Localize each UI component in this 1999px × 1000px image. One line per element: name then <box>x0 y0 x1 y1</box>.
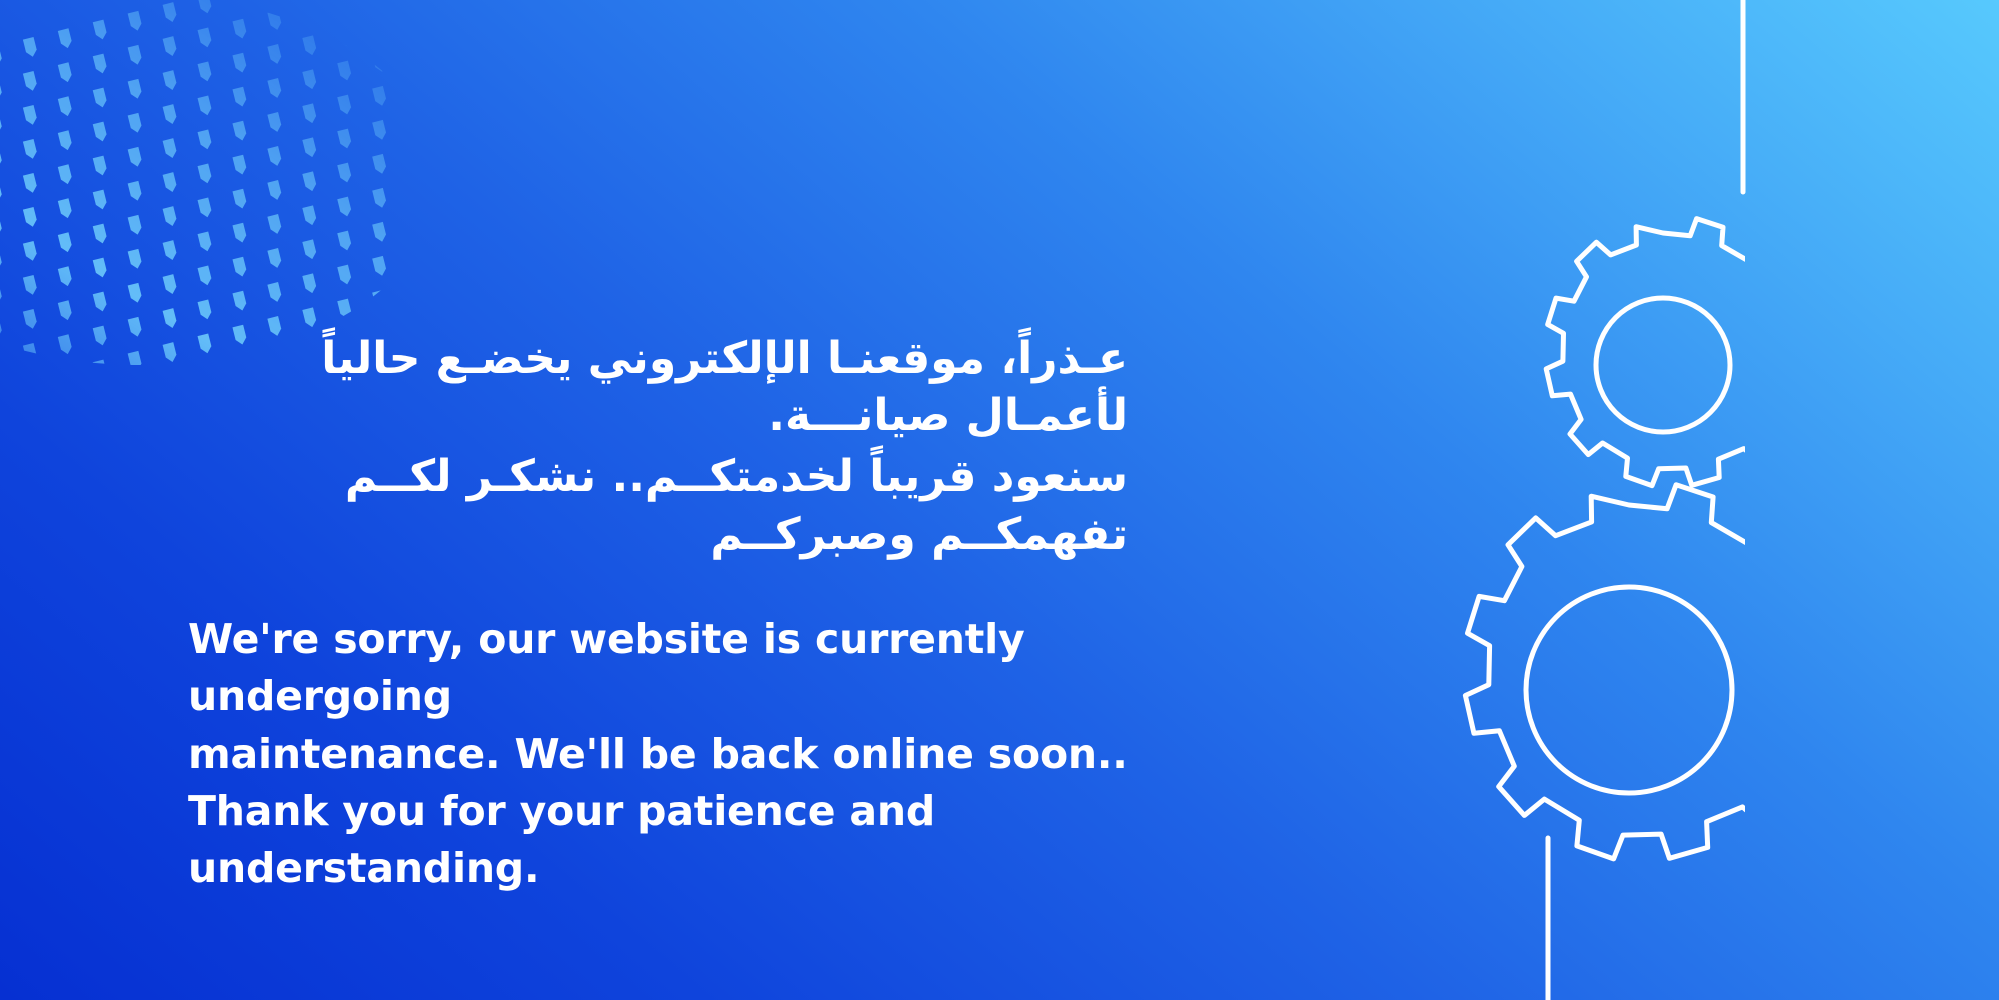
message-english-line-3: Thank you for your patience and understa… <box>188 783 1148 898</box>
message-arabic-line-2: سنعود قريباً لخدمتكــم.. نشكـر لكــم تفه… <box>188 448 1128 562</box>
gear-small <box>1546 219 1805 486</box>
maintenance-page: عـذراً، موقعنـا الإلكتروني يخضـع حالياً … <box>0 0 1999 1000</box>
message-arabic-line-1: عـذراً، موقعنـا الإلكتروني يخضـع حالياً … <box>188 330 1128 444</box>
message-block: عـذراً، موقعنـا الإلكتروني يخضـع حالياً … <box>188 330 1148 898</box>
spacer <box>188 567 1148 611</box>
gear-large <box>1465 485 1828 859</box>
message-english-line-2: maintenance. We'll be back online soon.. <box>188 726 1148 783</box>
message-english-line-1: We're sorry, our website is currently un… <box>188 611 1148 726</box>
gear-illustration <box>1239 0 1999 1000</box>
